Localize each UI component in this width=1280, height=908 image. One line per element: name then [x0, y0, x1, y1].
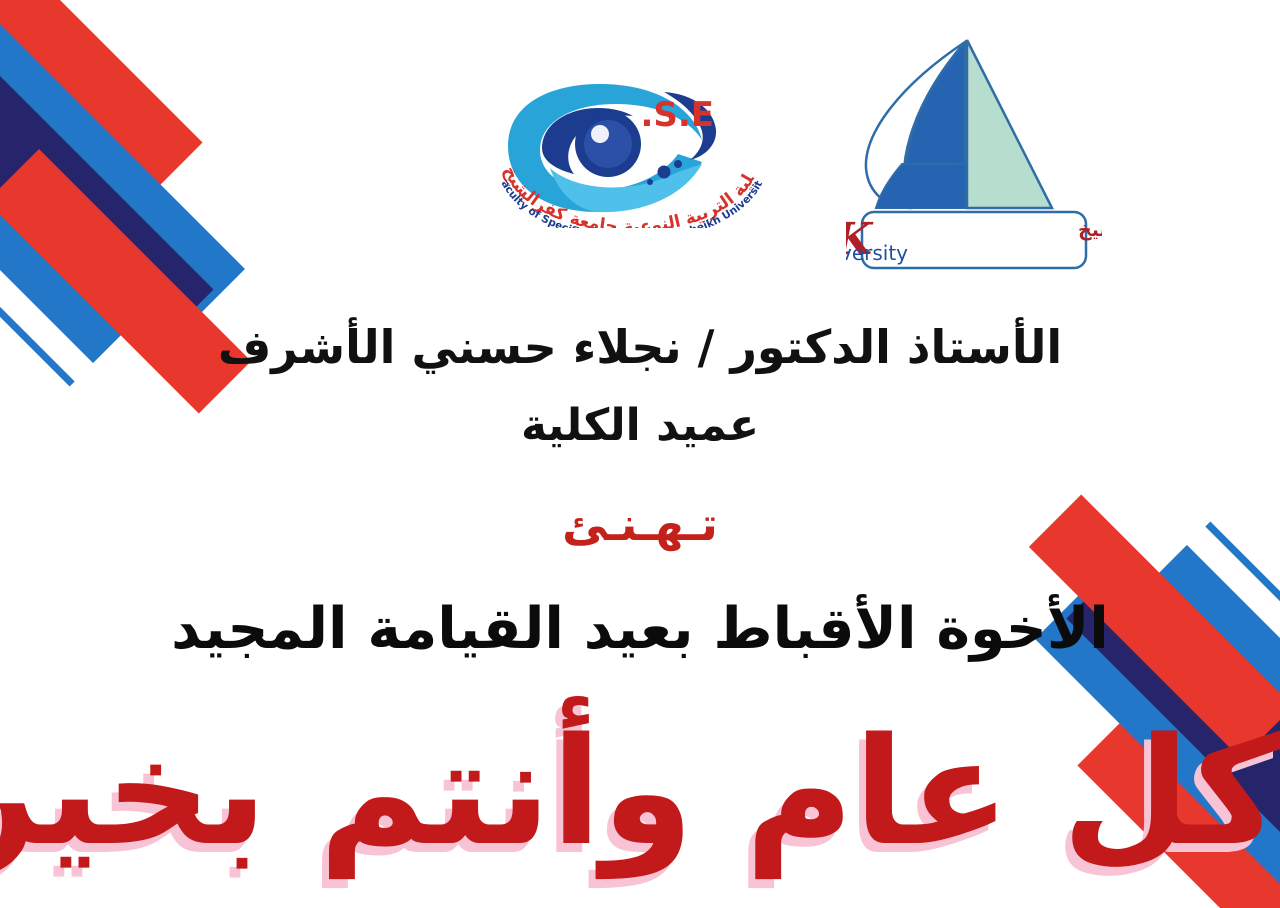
- dean-name: الأستاذ الدكتور / نجلاء حسني الأشرف: [0, 320, 1280, 374]
- big-wish-calligraphy: كل عام وأنتم بخير: [0, 700, 1280, 885]
- congratulates-verb: تـهـنـئ: [0, 497, 1280, 551]
- dean-title: عميد الكلية: [0, 400, 1280, 451]
- greeting-recipient-line: الأخوة الأقباط بعيد القيامة المجيد: [0, 596, 1280, 662]
- card-text-content: الأستاذ الدكتور / نجلاء حسني الأشرف عميد…: [0, 0, 1280, 908]
- greeting-card: S.E. كلية التربية النوعية جامعة كفرالشيخ…: [0, 0, 1280, 908]
